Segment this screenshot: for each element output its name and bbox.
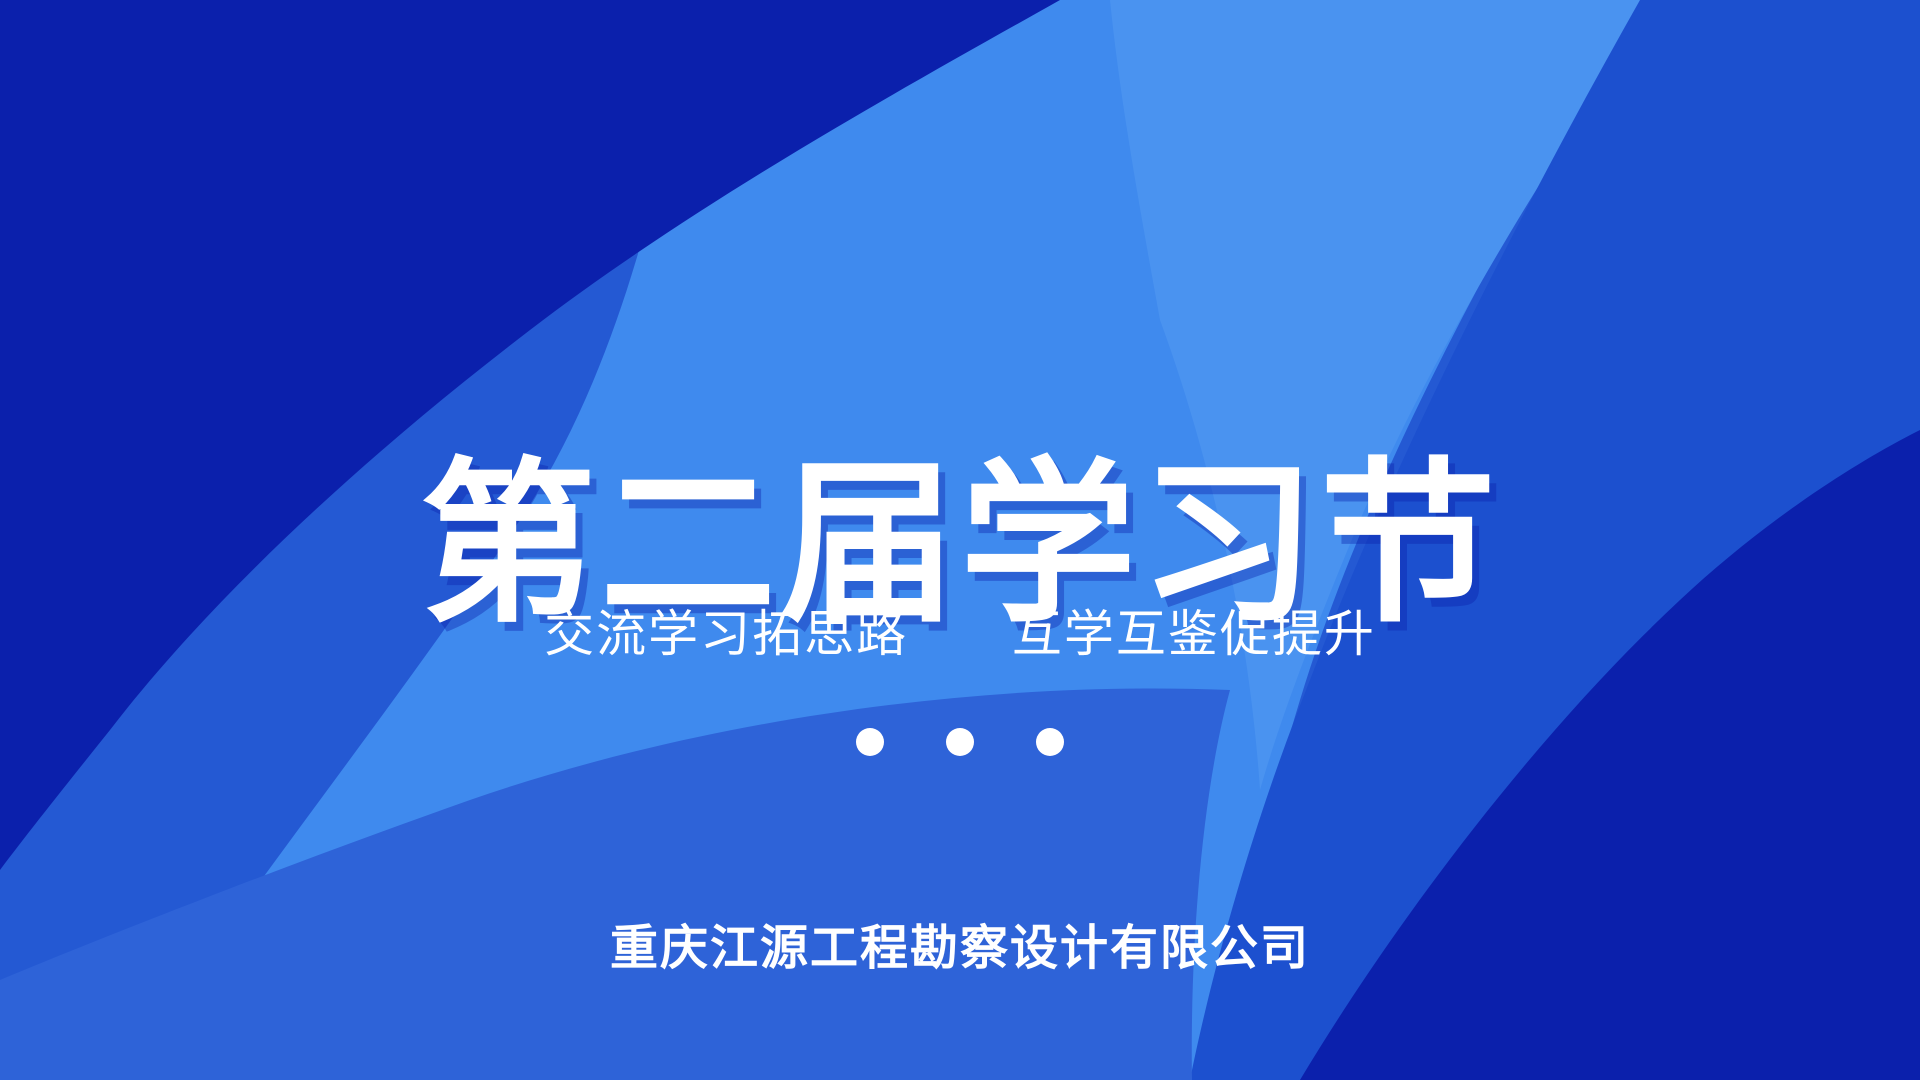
subtitle-right-phrase: 互学互鉴促提升: [1012, 605, 1376, 663]
poster-content: 第二届学习节 交流学习拓思路 互学互鉴促提升 重庆江源工程勘察设计有限公司: [0, 0, 1920, 1080]
dot-icon-1: [856, 728, 884, 756]
dot-icon-2: [946, 728, 974, 756]
organization-name: 重庆江源工程勘察设计有限公司: [0, 908, 1920, 978]
subtitle-left-phrase: 交流学习拓思路: [544, 605, 908, 663]
decorative-dots: [0, 728, 1920, 756]
subtitle-row: 交流学习拓思路 互学互鉴促提升: [0, 594, 1920, 666]
poster-canvas: 第二届学习节 交流学习拓思路 互学互鉴促提升 重庆江源工程勘察设计有限公司: [0, 0, 1920, 1080]
dot-icon-3: [1036, 728, 1064, 756]
